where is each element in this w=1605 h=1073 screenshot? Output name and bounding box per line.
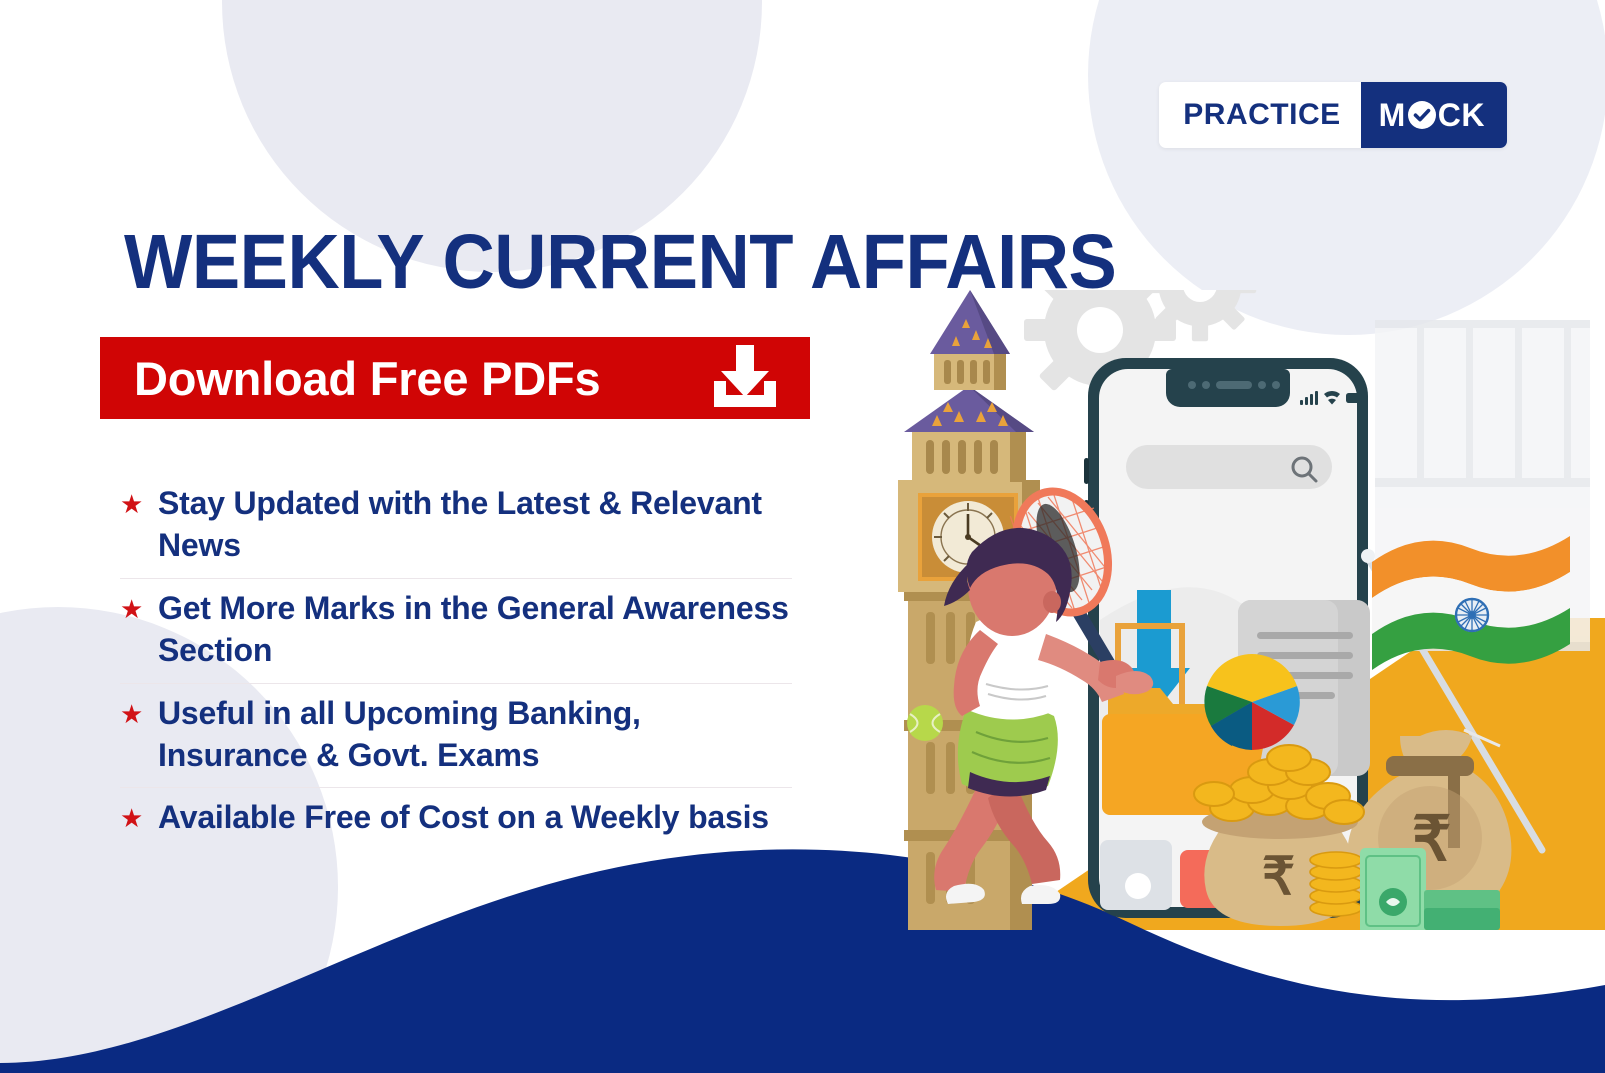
check-circle-icon	[1407, 100, 1437, 130]
cta-label: Download Free PDFs	[134, 351, 600, 406]
list-item: ★ Get More Marks in the General Awarenes…	[120, 579, 792, 684]
promo-banner: ₹ ₹	[0, 0, 1605, 1073]
phone-search-bar	[1126, 445, 1332, 489]
download-arrow-tray-icon	[712, 345, 778, 412]
pie-chart-icon	[1204, 654, 1299, 750]
list-item: ★ Stay Updated with the Latest & Relevan…	[120, 474, 792, 579]
feature-text: Get More Marks in the General Awareness …	[158, 588, 792, 672]
download-free-pdfs-button[interactable]: Download Free PDFs	[100, 337, 810, 419]
logo-mock-badge: M CK	[1361, 82, 1507, 148]
logo-mock-suffix: CK	[1438, 97, 1485, 134]
page-title: WEEKLY CURRENT AFFAIRS	[124, 218, 1116, 307]
star-icon: ★	[120, 693, 158, 727]
feature-text: Stay Updated with the Latest & Relevant …	[158, 483, 792, 567]
svg-text:₹: ₹	[1262, 848, 1295, 906]
illustration-group: ₹ ₹	[800, 290, 1605, 930]
practicemock-logo[interactable]: PRACTICE M CK	[1159, 82, 1507, 148]
list-item: ★ Available Free of Cost on a Weekly bas…	[120, 788, 792, 850]
background-circle-right	[1088, 0, 1605, 335]
star-icon: ★	[120, 797, 158, 831]
tennis-ball-icon	[907, 705, 943, 741]
feature-list: ★ Stay Updated with the Latest & Relevan…	[120, 474, 792, 850]
feature-text: Useful in all Upcoming Banking, Insuranc…	[158, 693, 792, 777]
feature-text: Available Free of Cost on a Weekly basis	[158, 797, 769, 839]
star-icon: ★	[120, 588, 158, 622]
logo-practice-text: PRACTICE	[1159, 82, 1360, 148]
list-item: ★ Useful in all Upcoming Banking, Insura…	[120, 684, 792, 789]
logo-mock-prefix: M	[1379, 97, 1406, 134]
star-icon: ★	[120, 483, 158, 517]
